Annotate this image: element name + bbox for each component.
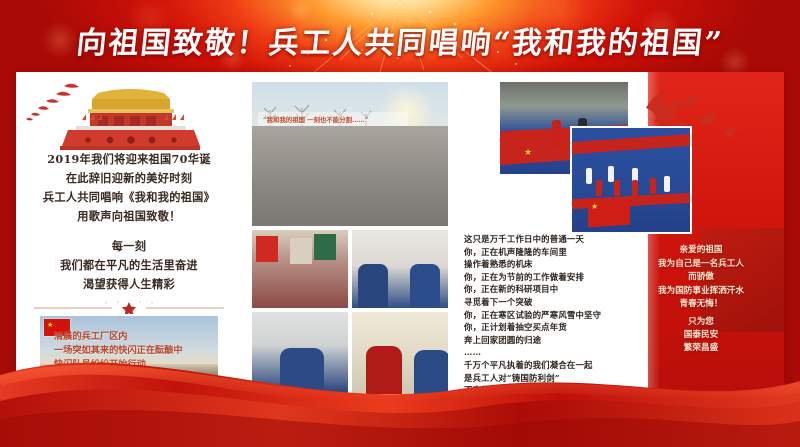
body-line-4: 你，正在为节前的工作做着安排 xyxy=(464,271,636,284)
flag-star-icon: ★ xyxy=(524,148,532,158)
road-cyclist-photo: “我和我的祖国 一刻也不能分割……” 女生的演唱响起 小提琴动人的旋律伴随其后 … xyxy=(252,82,448,226)
red-silk-ribbon xyxy=(0,297,800,447)
road-quote-line-2: 女生的演唱响起 xyxy=(263,126,405,136)
china-flag-on-floor xyxy=(588,199,630,228)
lead-line-3: 兵工人共同唱响《我和我的祖国》 xyxy=(22,188,236,207)
performer-row xyxy=(586,168,676,190)
verse-a-line-1: 亲爱的祖国 xyxy=(636,244,766,258)
road-quote-line-4: 好奇的目光追随着音乐的旋律 xyxy=(263,145,405,155)
tiananmen-gate-icon xyxy=(18,80,240,152)
body-line-3: 操作着熟悉的机床 xyxy=(464,258,636,271)
lead2-line-3: 渴望获得人生精彩 xyxy=(22,275,236,294)
poster-title: 向祖国致敬！兵工人共同唱响“我和我的祖国” xyxy=(74,18,725,62)
verse-a-line-2: 我为自己是一名兵工人 xyxy=(636,258,766,272)
body-line-1: 这只是万千工作日中的普通一天 xyxy=(464,233,636,246)
road-quote-overlay: “我和我的祖国 一刻也不能分割……” 女生的演唱响起 小提琴动人的旋律伴随其后 … xyxy=(258,112,408,168)
body-line-2: 你，正在机声隆隆的车间里 xyxy=(464,246,636,259)
road-quote-line-5: 迎来下一刻的惊喜 xyxy=(263,154,405,164)
lead-paragraph: 2019年我们将迎来祖国70华诞 在此辞旧迎新的美好时刻 兵工人共同唱响《我和我… xyxy=(22,150,236,294)
arena-carpet-upper xyxy=(572,134,690,154)
lead2-line-1: 每一刻 xyxy=(22,237,236,256)
road-quote-line-1: “我和我的祖国 一刻也不能分割……” xyxy=(263,116,405,126)
cyclist-figure-icon xyxy=(380,160,426,222)
lead-line-1: 2019年我们将迎来祖国70华诞 xyxy=(22,150,236,169)
verse-a-line-3: 而骄傲 xyxy=(636,271,766,285)
road-quote-text: “我和我的祖国 一刻也不能分割……” 女生的演唱响起 小提琴动人的旋律伴随其后 … xyxy=(263,116,405,164)
lead-line-2: 在此辞旧迎新的美好时刻 xyxy=(22,169,236,188)
poster-canvas: 向祖国致敬！兵工人共同唱响“我和我的祖国” xyxy=(0,0,800,447)
body-line-5: 你，正在新的科研项目中 xyxy=(464,283,636,296)
performer-red-figure xyxy=(552,120,561,146)
flag-arena-photo xyxy=(570,126,692,234)
lead2-line-2: 我们都在平凡的生活里奋进 xyxy=(22,256,236,275)
poster-title-bar: 向祖国致敬！兵工人共同唱响“我和我的祖国” xyxy=(0,18,800,62)
road-quote-line-3: 小提琴动人的旋律伴随其后 xyxy=(263,135,405,145)
lead-line-4: 用歌声向祖国致敬！ xyxy=(22,207,236,226)
